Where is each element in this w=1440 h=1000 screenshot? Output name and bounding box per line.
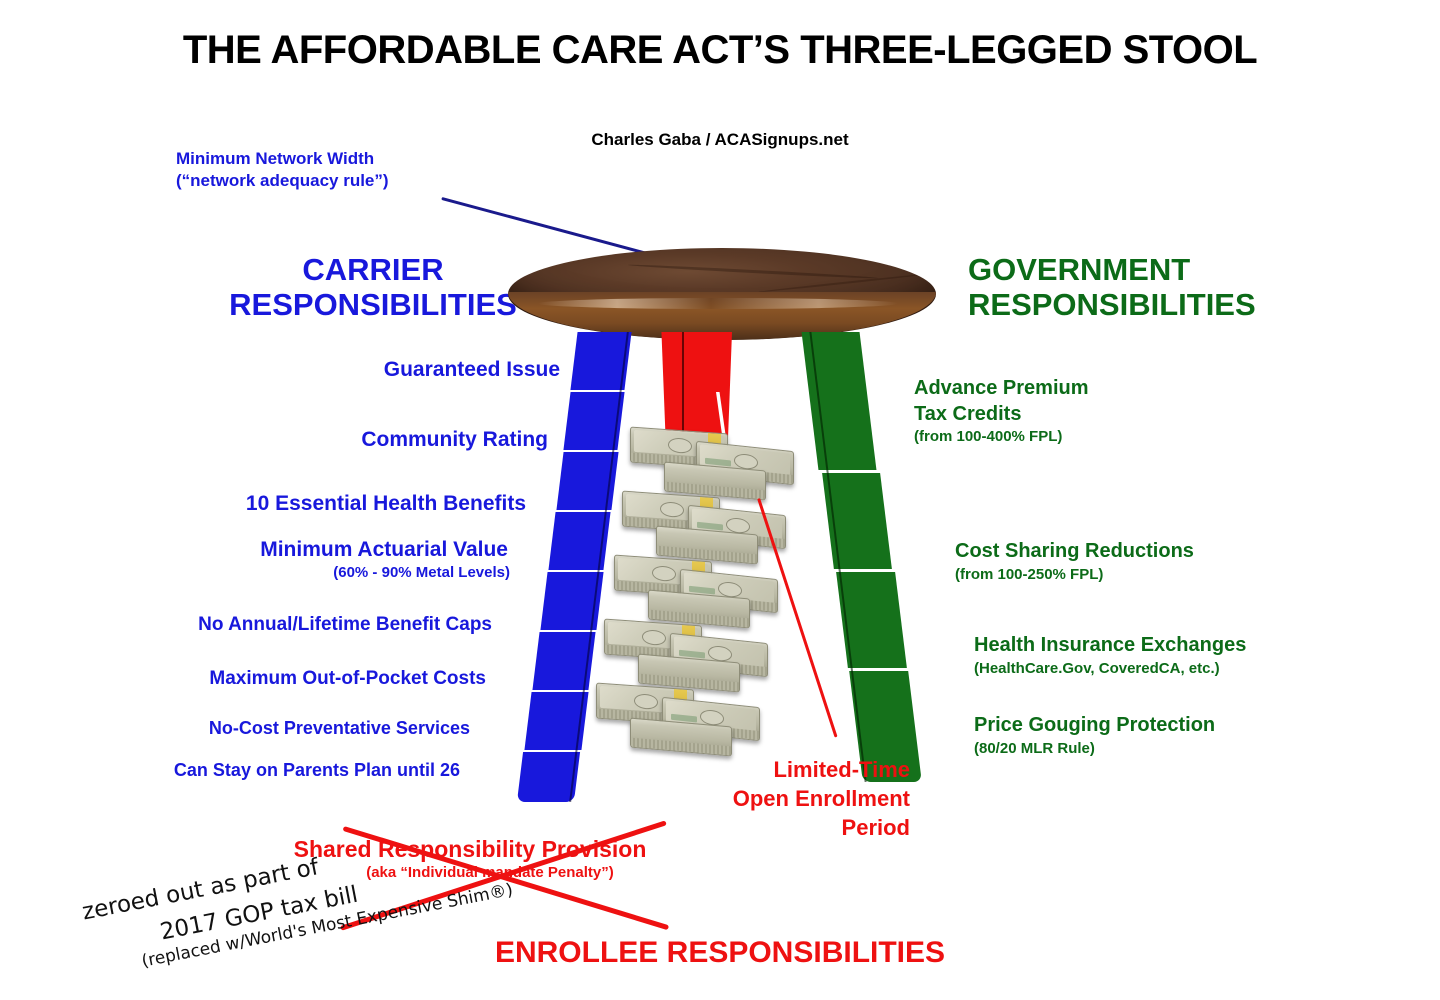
government-item-sublabel: (from 100-400% FPL) bbox=[914, 428, 1062, 445]
open-enrollment-line-1: Limited-Time bbox=[700, 755, 910, 784]
shared-responsibility-label: Shared Responsibility Provision bbox=[294, 836, 647, 862]
government-item-sublabel: (80/20 MLR Rule) bbox=[974, 740, 1095, 757]
byline-credit: Charles Gaba / ACASignups.net bbox=[0, 130, 1440, 150]
enrollee-responsibilities-heading: ENROLLEE RESPONSIBILITIES bbox=[470, 936, 970, 970]
callout-line-2: (“network adequacy rule”) bbox=[176, 170, 446, 192]
carrier-item-preventative-services: No-Cost Preventative Services bbox=[166, 718, 470, 739]
page-title: THE AFFORDABLE CARE ACT’S THREE-LEGGED S… bbox=[0, 28, 1440, 73]
seat-wood-grain bbox=[628, 263, 878, 279]
open-enrollment-line-2: Open Enrollment bbox=[700, 784, 910, 813]
carrier-item-label: No-Cost Preventative Services bbox=[209, 718, 470, 738]
government-item-label: Health Insurance Exchanges bbox=[974, 634, 1246, 656]
bill-portrait-oval bbox=[660, 501, 684, 518]
callout-minimum-network-width: Minimum Network Width (“network adequacy… bbox=[176, 148, 446, 192]
government-heading-line-1: GOVERNMENT bbox=[968, 252, 1298, 287]
carrier-item-community-rating: Community Rating bbox=[218, 428, 548, 452]
carrier-item-label: No Annual/Lifetime Benefit Caps bbox=[198, 614, 492, 635]
government-item-health-insurance-exchanges: Health Insurance Exchanges bbox=[974, 634, 1334, 657]
government-item-exchanges-sub: (HealthCare.Gov, CoveredCA, etc.) bbox=[974, 660, 1334, 677]
carrier-item-minimum-actuarial-value: Minimum Actuarial Value bbox=[190, 538, 508, 562]
money-shim bbox=[588, 430, 798, 780]
callout-line-1: Minimum Network Width bbox=[176, 148, 446, 170]
government-item-label-2: Tax Credits bbox=[914, 402, 1234, 428]
bill-portrait-oval bbox=[642, 629, 666, 646]
carrier-item-sublabel: (60% - 90% Metal Levels) bbox=[333, 564, 510, 581]
infographic-canvas: THE AFFORDABLE CARE ACT’S THREE-LEGGED S… bbox=[0, 0, 1440, 1000]
stool-seat bbox=[508, 248, 936, 340]
carrier-item-essential-health-benefits: 10 Essential Health Benefits bbox=[176, 492, 526, 516]
government-item-sublabel: (from 100-250% FPL) bbox=[955, 566, 1103, 583]
bill-portrait-oval bbox=[634, 693, 658, 710]
bill-edge-stack bbox=[631, 738, 731, 756]
carrier-item-no-benefit-caps: No Annual/Lifetime Benefit Caps bbox=[160, 614, 492, 636]
carrier-responsibilities-heading: CARRIER RESPONSIBILITIES bbox=[228, 252, 518, 322]
carrier-item-minimum-actuarial-value-sub: (60% - 90% Metal Levels) bbox=[190, 564, 510, 581]
carrier-item-label: 10 Essential Health Benefits bbox=[246, 492, 526, 515]
government-responsibilities-heading: GOVERNMENT RESPONSIBILITIES bbox=[968, 252, 1298, 322]
carrier-item-guaranteed-issue: Guaranteed Issue bbox=[240, 358, 560, 382]
enrollee-item-open-enrollment: Limited-Time Open Enrollment Period bbox=[700, 755, 910, 842]
bill-portrait-oval bbox=[668, 437, 692, 454]
government-item-cost-sharing-reductions: Cost Sharing Reductions bbox=[955, 540, 1295, 563]
enrollee-leg-edge bbox=[682, 332, 684, 444]
government-item-label: Advance Premium bbox=[914, 376, 1234, 402]
bill-portrait-oval bbox=[652, 565, 676, 582]
carrier-item-label: Community Rating bbox=[361, 428, 548, 451]
carrier-heading-line-1: CARRIER bbox=[228, 252, 518, 287]
carrier-item-max-out-of-pocket: Maximum Out-of-Pocket Costs bbox=[168, 668, 486, 690]
carrier-item-parents-plan: Can Stay on Parents Plan until 26 bbox=[130, 760, 460, 781]
government-item-label: Cost Sharing Reductions bbox=[955, 540, 1194, 562]
government-item-advance-premium-tax-credits: Advance Premium Tax Credits bbox=[914, 376, 1234, 427]
seat-rim-highlight bbox=[538, 298, 898, 309]
government-item-advance-premium-sub: (from 100-400% FPL) bbox=[914, 428, 1234, 445]
government-item-label: Price Gouging Protection bbox=[974, 714, 1215, 736]
carrier-item-label: Can Stay on Parents Plan until 26 bbox=[174, 760, 460, 780]
government-heading-line-2: RESPONSIBILITIES bbox=[968, 287, 1298, 322]
carrier-item-label: Guaranteed Issue bbox=[384, 358, 560, 381]
government-item-cost-sharing-sub: (from 100-250% FPL) bbox=[955, 566, 1295, 583]
government-item-sublabel: (HealthCare.Gov, CoveredCA, etc.) bbox=[974, 660, 1220, 677]
open-enrollment-line-3: Period bbox=[700, 813, 910, 842]
carrier-item-label: Maximum Out-of-Pocket Costs bbox=[209, 668, 486, 689]
government-item-price-gouging-protection: Price Gouging Protection bbox=[974, 714, 1314, 737]
government-item-price-gouging-sub: (80/20 MLR Rule) bbox=[974, 740, 1314, 757]
carrier-heading-line-2: RESPONSIBILITIES bbox=[228, 287, 518, 322]
carrier-item-label: Minimum Actuarial Value bbox=[260, 538, 508, 561]
